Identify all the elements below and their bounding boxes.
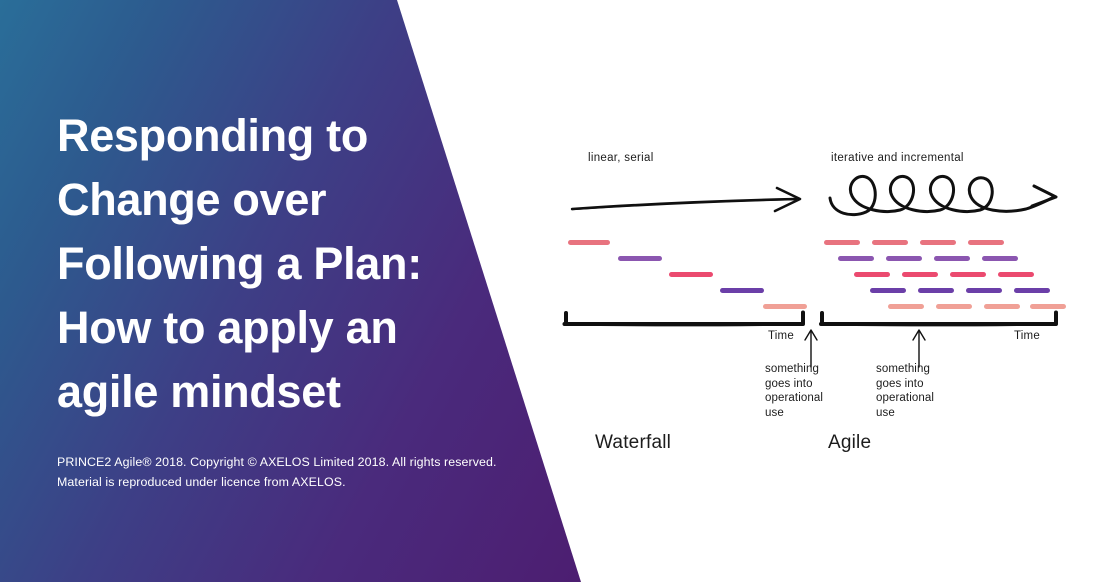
agile-callout-arrow bbox=[910, 326, 928, 366]
iteration-bar bbox=[998, 272, 1034, 277]
agile-caption: iterative and incremental bbox=[831, 152, 964, 164]
iteration-bar bbox=[1030, 304, 1066, 309]
copyright-notice: PRINCE2 Agile® 2018. Copyright © AXELOS … bbox=[57, 452, 527, 492]
waterfall-panel: linear, serial bbox=[560, 0, 810, 582]
iteration-bar bbox=[950, 272, 986, 277]
spiral-arrow-icon bbox=[826, 164, 1066, 234]
agile-callout-text: something goes into operational use bbox=[876, 362, 968, 421]
agile-spiral-arrow bbox=[826, 164, 1066, 234]
iteration-bar bbox=[854, 272, 890, 277]
waterfall-title: Waterfall bbox=[595, 432, 671, 454]
agile-panel: iterative and incremental bbox=[818, 0, 1068, 582]
iteration-bar bbox=[982, 256, 1018, 261]
iteration-bar bbox=[1014, 288, 1050, 293]
phase-bar bbox=[618, 256, 662, 261]
waterfall-phase-bars bbox=[560, 236, 810, 312]
iteration-bar bbox=[838, 256, 874, 261]
phase-bar bbox=[568, 240, 610, 245]
iteration-bar bbox=[870, 288, 906, 293]
phase-bar bbox=[669, 272, 713, 277]
iteration-bar bbox=[966, 288, 1002, 293]
slide-canvas: Responding to Change over Following a Pl… bbox=[0, 0, 1100, 582]
timeline-bracket-icon bbox=[560, 310, 810, 332]
agile-title: Agile bbox=[828, 432, 871, 454]
phase-bar bbox=[763, 304, 807, 309]
comparison-diagram: linear, serial bbox=[540, 0, 1100, 582]
waterfall-caption: linear, serial bbox=[588, 152, 654, 164]
page-title: Responding to Change over Following a Pl… bbox=[57, 104, 477, 423]
iteration-bar bbox=[984, 304, 1020, 309]
waterfall-timeline-bracket bbox=[560, 310, 810, 332]
phase-bar bbox=[720, 288, 764, 293]
agile-timeline-bracket bbox=[818, 310, 1068, 332]
iteration-bar bbox=[934, 256, 970, 261]
iteration-bar bbox=[872, 240, 908, 245]
straight-arrow-icon bbox=[568, 178, 808, 234]
iteration-bar bbox=[920, 240, 956, 245]
iteration-bar bbox=[824, 240, 860, 245]
agile-iteration-bars bbox=[818, 236, 1068, 312]
iteration-bar bbox=[968, 240, 1004, 245]
iteration-bar bbox=[888, 304, 924, 309]
iteration-bar bbox=[902, 272, 938, 277]
agile-time-label: Time bbox=[1014, 330, 1040, 342]
iteration-bar bbox=[918, 288, 954, 293]
iteration-bar bbox=[936, 304, 972, 309]
iteration-bar bbox=[886, 256, 922, 261]
timeline-bracket-icon bbox=[818, 310, 1068, 332]
waterfall-time-label: Time bbox=[768, 330, 794, 342]
waterfall-straight-arrow bbox=[568, 178, 808, 234]
